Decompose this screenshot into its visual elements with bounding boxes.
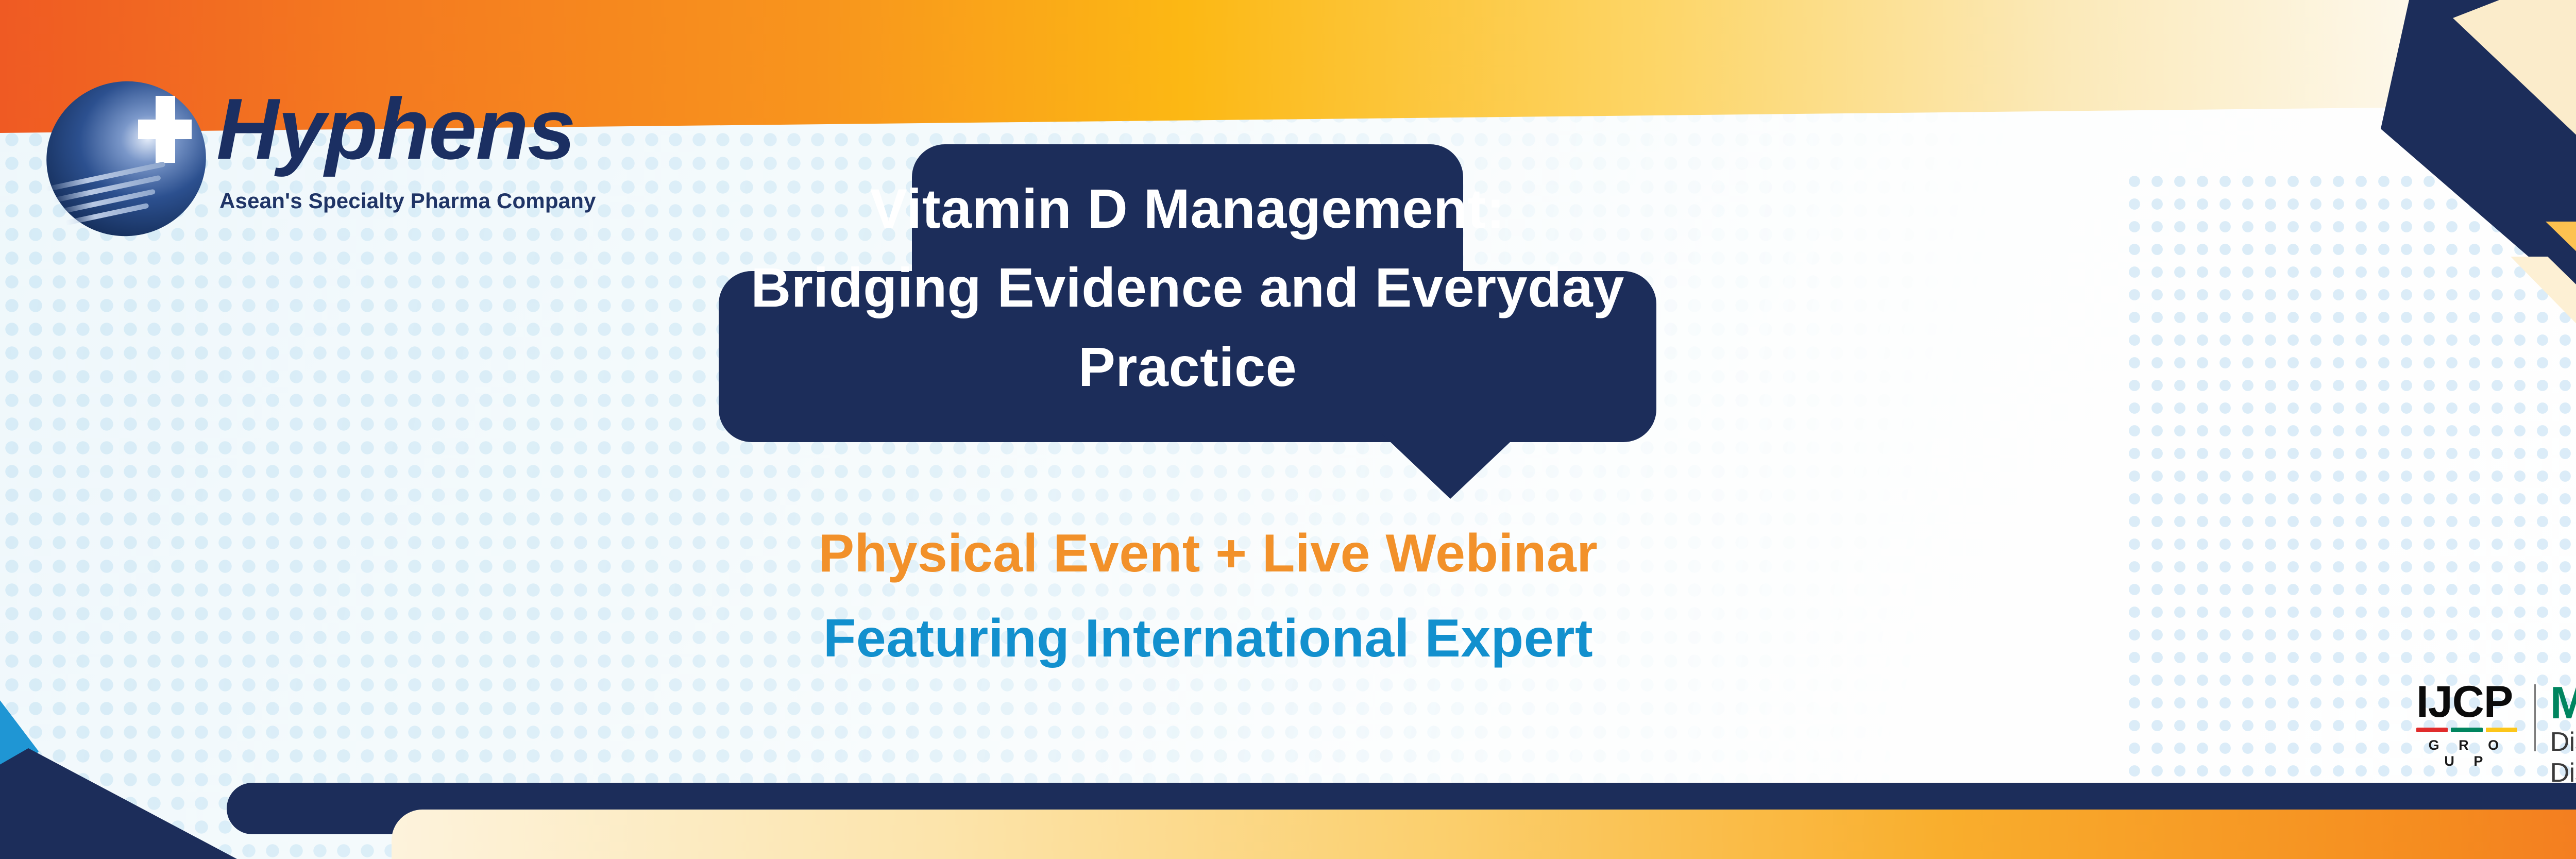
hyphens-logo: Hyphens Asean's Specialty Pharma Company	[46, 72, 665, 242]
ijcp-bar-green	[2451, 728, 2482, 732]
ijcp-group-label: G R O U P	[2416, 737, 2519, 769]
event-title: Vitamin D Management: Bridging Evidence …	[719, 169, 1656, 406]
medtalks-logo: MED talks ® Discover. Learn. Discuss	[2550, 681, 2576, 788]
hyphens-tagline: Asean's Specialty Pharma Company	[219, 189, 596, 213]
medtalks-tagline: Discover. Learn. Discuss	[2550, 727, 2576, 788]
logo-divider	[2534, 684, 2536, 751]
medical-cross-icon	[138, 96, 192, 163]
event-banner: D Hyphens Asean's Specialty Pharma Compa…	[0, 0, 2576, 859]
ijcp-logo: IJCP G R O U P	[2416, 681, 2519, 769]
medtalks-wordmark-row: MED talks ®	[2550, 681, 2576, 725]
event-format-line: Physical Event + Live Webinar	[719, 523, 1698, 584]
top-right-decoration	[2329, 0, 2576, 392]
partner-logo-lockup: IJCP G R O U P MED talks ® Discover. Lea…	[2416, 681, 2576, 779]
bottom-gradient-bar	[392, 810, 2576, 859]
hyphens-wordmark: Hyphens	[216, 86, 575, 172]
title-speech-bubble: Vitamin D Management: Bridging Evidence …	[719, 144, 1656, 442]
ijcp-wordmark: IJCP	[2416, 681, 2519, 723]
event-speaker-line: Featuring International Expert	[719, 608, 1698, 669]
event-title-line-2: Bridging Evidence and Everyday Practice	[719, 248, 1656, 406]
medtalks-med-text: MED	[2550, 681, 2576, 725]
event-title-line-1: Vitamin D Management:	[870, 177, 1505, 240]
ijcp-bar-red	[2416, 728, 2448, 732]
ijcp-bar-yellow	[2486, 728, 2517, 732]
ijcp-color-bars	[2416, 728, 2517, 732]
bubble-pointer-tail	[1381, 433, 1520, 499]
